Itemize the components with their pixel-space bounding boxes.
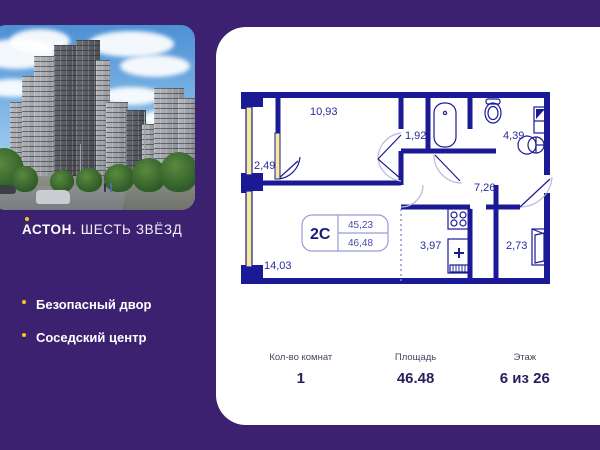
- brand-logo: АСТОН. ШЕСТЬ ЗВЁЗД: [22, 222, 202, 237]
- complex-render-image: [0, 25, 195, 210]
- cloud-shape: [88, 31, 174, 57]
- cloud-shape: [120, 55, 190, 77]
- room-label-entry: 2,73: [506, 240, 527, 252]
- tree-shape: [12, 166, 38, 192]
- feature-label: Безопасный двор: [36, 297, 151, 312]
- info-rooms-value: 1: [242, 370, 360, 387]
- room-label-bathroom: 4,39: [503, 130, 524, 142]
- room-label-corridor: 7,26: [474, 182, 495, 194]
- info-area-value: 46.48: [360, 370, 472, 387]
- tree-shape: [160, 152, 195, 192]
- pedestrian-shape: [110, 183, 112, 192]
- info-rooms-label: Кол-во комнат: [242, 352, 360, 363]
- feature-item-1: Соседский центр: [22, 330, 202, 345]
- car-shape: [36, 190, 70, 204]
- room-label-living: 10,93: [310, 106, 338, 118]
- brand-panel: АСТОН. ШЕСТЬ ЗВЁЗД Безопасный двор Сосед…: [0, 0, 200, 450]
- info-floor-label: Этаж: [472, 352, 578, 363]
- room-label-main: 14,03: [264, 260, 292, 272]
- brand-logo-text: АСТОН. ШЕСТЬ ЗВЁЗД: [22, 222, 202, 237]
- pedestrian-shape: [104, 183, 106, 192]
- apartment-type-badge: 2С 45,23 46,48: [302, 215, 388, 251]
- badge-living-area: 45,23: [348, 220, 373, 231]
- info-floor: Этаж 6 из 26: [472, 352, 578, 387]
- badge-type-value: 2С: [310, 226, 331, 243]
- tree-shape: [104, 164, 134, 192]
- listing-card-screenshot: АСТОН. ШЕСТЬ ЗВЁЗД Безопасный двор Сосед…: [0, 0, 600, 450]
- floorplan-drawing: 10,93 2,49 1,92 4,39 7,26 14,03 3,97 2,7…: [238, 89, 580, 289]
- info-floor-value: 6 из 26: [472, 370, 578, 387]
- logo-primary-word: АСТОН: [22, 222, 72, 237]
- summary-info-bar: Кол-во комнат 1 Площадь 46.48 Этаж 6 из …: [242, 352, 578, 387]
- feature-list: Безопасный двор Соседский центр: [22, 297, 202, 363]
- tree-shape: [50, 170, 74, 192]
- room-label-kitchen: 3,97: [420, 240, 441, 252]
- room-label-balcony: 2,49: [254, 160, 275, 172]
- info-rooms: Кол-во комнат 1: [242, 352, 360, 387]
- info-area-label: Площадь: [360, 352, 472, 363]
- bullet-dot-icon: [22, 333, 26, 337]
- feature-label: Соседский центр: [36, 330, 146, 345]
- bullet-dot-icon: [22, 300, 26, 304]
- feature-item-0: Безопасный двор: [22, 297, 202, 312]
- room-label-hall-1: 1,92: [405, 130, 426, 142]
- badge-total-area: 46,48: [348, 238, 373, 249]
- car-shape: [0, 185, 16, 194]
- logo-accent-dot: [25, 217, 29, 221]
- tree-shape: [76, 168, 102, 192]
- logo-secondary-words: ШЕСТЬ ЗВЁЗД: [81, 222, 183, 237]
- logo-separator: .: [72, 222, 76, 237]
- floorplan-card: 10,93 2,49 1,92 4,39 7,26 14,03 3,97 2,7…: [216, 27, 600, 425]
- info-area: Площадь 46.48: [360, 352, 472, 387]
- floorplan-svg: 10,93 2,49 1,92 4,39 7,26 14,03 3,97 2,7…: [238, 89, 580, 289]
